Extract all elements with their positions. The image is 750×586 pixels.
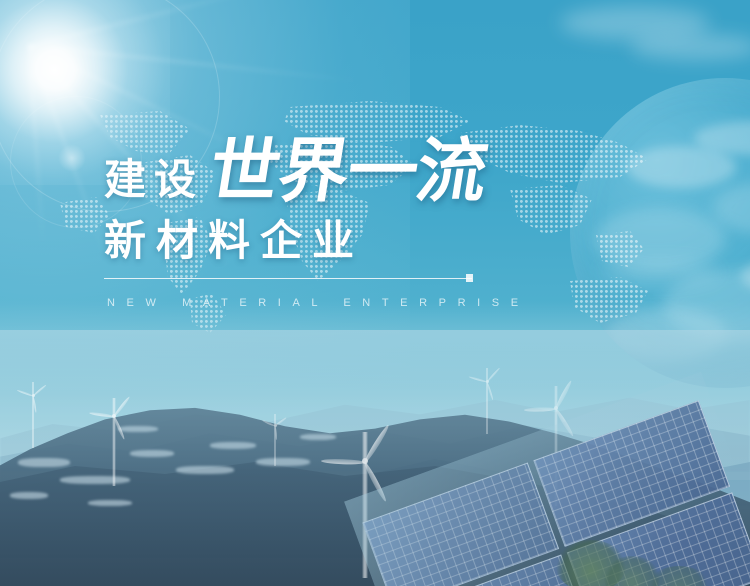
headline-line-1: 建设 世界一流 [104, 128, 664, 206]
wind-turbine [92, 398, 136, 486]
wind-turbine [262, 414, 288, 466]
headline-prefix: 建设 [104, 158, 204, 202]
cloud-wisp [630, 34, 750, 60]
headline-emphasis: 世界一流 [204, 136, 491, 206]
hero-banner: 建设 世界一流 新材料企业 NEW MATERIAL ENTERPRISE [0, 0, 750, 586]
divider-line [104, 278, 472, 279]
headline-block: 建设 世界一流 新材料企业 [104, 128, 664, 264]
divider-end-cap [466, 274, 473, 282]
wind-turbine [470, 368, 504, 434]
wind-turbine [18, 382, 48, 448]
subtitle-text: NEW MATERIAL ENTERPRISE [107, 297, 530, 309]
headline-line-2: 新材料企业 [104, 218, 664, 264]
